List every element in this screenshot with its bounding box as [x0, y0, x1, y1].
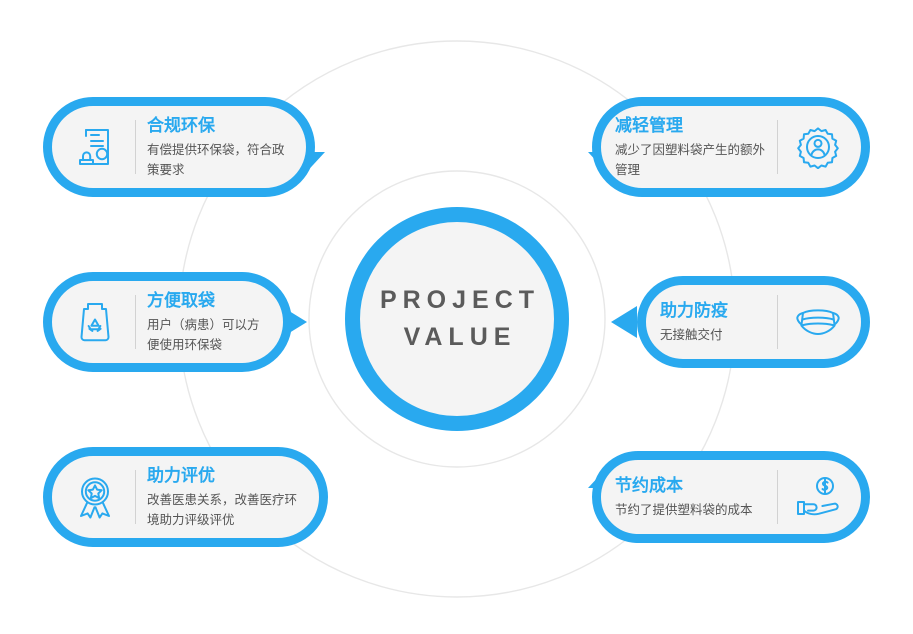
value-card-compliance-environmental[interactable]: 合规环保 有偿提供环保袋，符合政策要求: [43, 97, 315, 197]
card-description: 无接触交付: [660, 325, 766, 345]
face-mask-icon: [789, 305, 847, 339]
card-title: 助力评优: [147, 464, 305, 489]
value-card-reduced-management[interactable]: 减轻管理 减少了因塑料袋产生的额外管理: [592, 97, 870, 197]
card-description: 有偿提供环保袋，符合政策要求: [147, 140, 292, 181]
card-divider: [777, 120, 778, 174]
card-divider: [777, 295, 778, 349]
card-tail-middle-right: [611, 306, 637, 338]
center-hub-line-2: VALUE: [398, 319, 517, 356]
recycle-shopping-bag-icon: [66, 300, 124, 344]
card-text: 节约成本 节约了提供塑料袋的成本: [615, 474, 766, 520]
card-text: 助力防疫 无接触交付: [660, 299, 766, 345]
card-description: 减少了因塑料袋产生的额外管理: [615, 140, 766, 181]
value-card-epidemic-prevention[interactable]: 助力防疫 无接触交付: [637, 276, 870, 368]
card-title: 助力防疫: [660, 299, 766, 324]
card-text: 减轻管理 减少了因塑料袋产生的额外管理: [615, 114, 766, 180]
card-title: 方便取袋: [147, 289, 269, 314]
card-text: 方便取袋 用户（病患）可以方便使用环保袋: [147, 289, 269, 355]
value-card-rating-excellence[interactable]: 助力评优 改善医患关系，改善医疗环境助力评级评优: [43, 447, 328, 547]
value-card-convenient-bag-pickup[interactable]: 方便取袋 用户（病患）可以方便使用环保袋: [43, 272, 292, 372]
card-title: 减轻管理: [615, 114, 766, 139]
card-divider: [135, 470, 136, 524]
card-divider: [777, 470, 778, 524]
card-text: 助力评优 改善医患关系，改善医疗环境助力评级评优: [147, 464, 305, 530]
card-divider: [135, 295, 136, 349]
hand-money-icon: [789, 476, 847, 518]
card-description: 节约了提供塑料袋的成本: [615, 500, 766, 520]
card-divider: [135, 120, 136, 174]
stamped-document-icon: [66, 126, 124, 168]
card-text: 合规环保 有偿提供环保袋，符合政策要求: [147, 114, 292, 180]
card-description: 改善医患关系，改善医疗环境助力评级评优: [147, 490, 305, 531]
card-title: 节约成本: [615, 474, 766, 499]
project-value-diagram: 合规环保 有偿提供环保袋，符合政策要求 减轻管理 减少了因塑料袋产生的额外管理: [0, 0, 913, 634]
center-hub-line-1: PROJECT: [374, 282, 540, 319]
card-title: 合规环保: [147, 114, 292, 139]
gear-person-icon: [789, 125, 847, 169]
value-card-cost-saving[interactable]: 节约成本 节约了提供塑料袋的成本: [592, 451, 870, 543]
award-medal-icon: [66, 475, 124, 519]
center-hub: PROJECT VALUE: [345, 207, 569, 431]
card-description: 用户（病患）可以方便使用环保袋: [147, 315, 269, 356]
